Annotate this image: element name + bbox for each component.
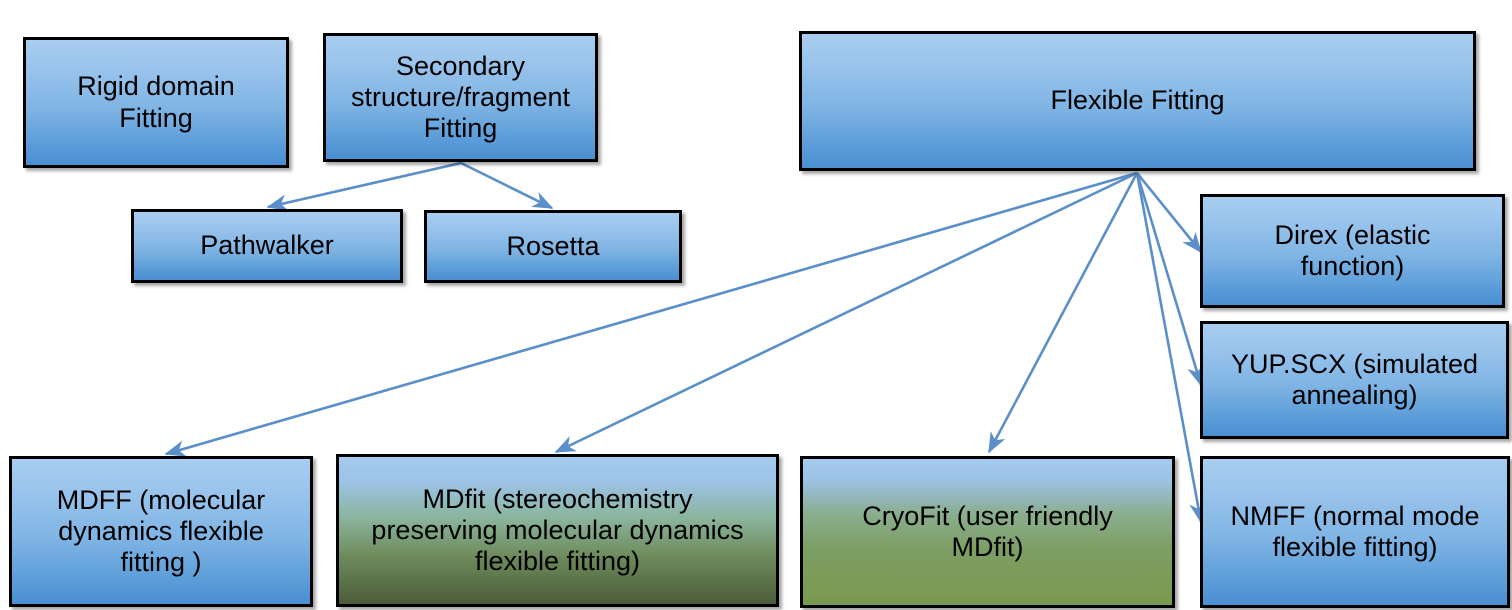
node-direx[interactable]: Direx (elastic function) (1200, 194, 1505, 308)
node-flexible-fitting[interactable]: Flexible Fitting (799, 31, 1476, 171)
node-rigid-domain-fitting[interactable]: Rigid domain Fitting (23, 37, 289, 168)
node-nmff[interactable]: NMFF (normal mode flexible fitting) (1200, 456, 1510, 608)
edge-flexible-to-direx (1137, 173, 1201, 252)
node-yup-scx[interactable]: YUP.SCX (simulated annealing) (1200, 321, 1509, 439)
diagram-canvas: Rigid domain FittingSecondary structure/… (0, 0, 1512, 610)
node-pathwalker[interactable]: Pathwalker (131, 209, 403, 283)
edge-flexible-to-cryofit (989, 173, 1137, 452)
node-mdfit[interactable]: MDfit (stereochemistry preserving molecu… (336, 454, 779, 607)
node-secondary-structure-fragment-fitting[interactable]: Secondary structure/fragment Fitting (323, 33, 598, 162)
node-rosetta[interactable]: Rosetta (424, 210, 682, 283)
node-cryofit[interactable]: CryoFit (user friendly MDfit) (800, 456, 1175, 608)
edge-flexible-to-yupscx (1137, 173, 1201, 385)
edge-secondary-to-rosetta (461, 163, 552, 208)
edge-secondary-to-pathwalker (268, 163, 461, 207)
node-mdff[interactable]: MDFF (molecular dynamics flexible fittin… (9, 456, 313, 607)
